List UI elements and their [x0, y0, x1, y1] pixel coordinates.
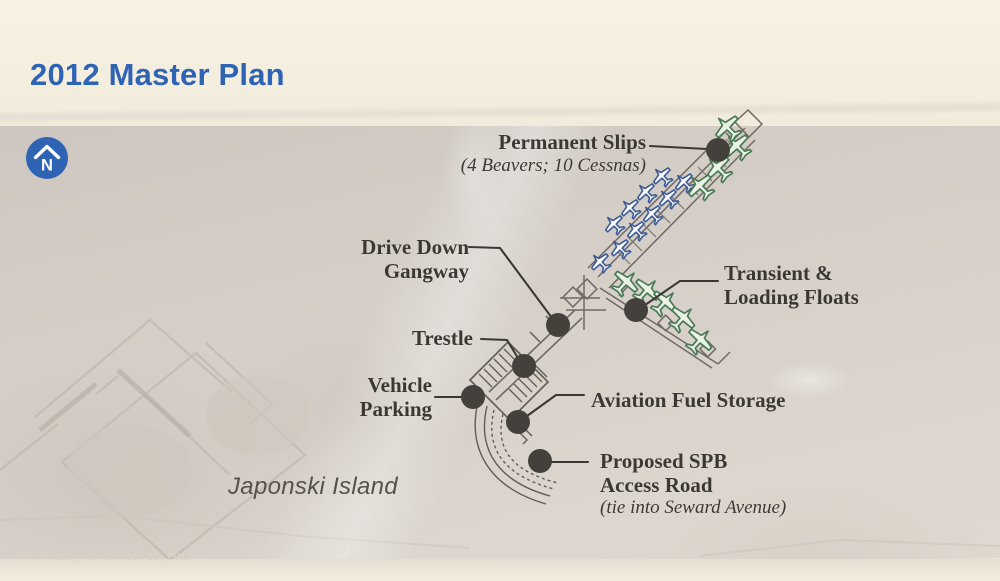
marker-aviation-fuel-storage[interactable]: [506, 410, 530, 434]
callout-drive-down-gangway: Drive Down Gangway: [299, 236, 469, 283]
transient-beaver-symbols: [607, 264, 718, 359]
callout-transient-loading-floats-line1: Transient &: [724, 261, 833, 285]
callout-permanent-slips-title: Permanent Slips: [498, 130, 646, 154]
marker-vehicle-parking[interactable]: [461, 385, 485, 409]
marker-permanent-slips[interactable]: [706, 138, 730, 162]
callout-trestle-title: Trestle: [412, 326, 473, 350]
callout-proposed-spb-access-road-line2: Access Road: [600, 473, 713, 497]
marker-proposed-spb-access-road[interactable]: [528, 449, 552, 473]
callout-proposed-spb-access-road-line1: Proposed SPB: [600, 449, 727, 473]
marker-transient-loading-floats[interactable]: [624, 298, 648, 322]
slide-footer-date: Wednesday, December 11, 2019: [18, 551, 194, 563]
callout-vehicle-parking-line1: Vehicle: [367, 373, 432, 397]
callout-transient-loading-floats-line2: Loading Floats: [724, 285, 859, 309]
callout-aviation-fuel-storage-title: Aviation Fuel Storage: [591, 388, 785, 412]
island-label: Japonski Island: [228, 473, 398, 501]
marker-drive-down-gangway[interactable]: [546, 313, 570, 337]
marker-trestle[interactable]: [512, 354, 536, 378]
callout-vehicle-parking-line2: Parking: [360, 397, 432, 421]
callout-drive-down-gangway-line2: Gangway: [384, 259, 469, 283]
slide-canvas: 2012 Master Plan N: [0, 0, 1000, 581]
callout-aviation-fuel-storage: Aviation Fuel Storage: [591, 389, 785, 413]
callout-transient-loading-floats: Transient & Loading Floats: [724, 262, 859, 309]
callout-drive-down-gangway-line1: Drive Down: [361, 235, 469, 259]
callout-proposed-spb-access-road-subtitle: (tie into Seward Avenue): [600, 497, 786, 518]
callout-proposed-spb-access-road: Proposed SPB Access Road (tie into Sewar…: [600, 450, 786, 519]
callout-vehicle-parking: Vehicle Parking: [282, 374, 432, 421]
cessna-plane-symbols: [587, 163, 699, 277]
callout-permanent-slips: Permanent Slips (4 Beavers; 10 Cessnas): [450, 131, 646, 176]
callout-permanent-slips-subtitle: (4 Beavers; 10 Cessnas): [450, 155, 646, 176]
callout-trestle: Trestle: [333, 327, 473, 351]
